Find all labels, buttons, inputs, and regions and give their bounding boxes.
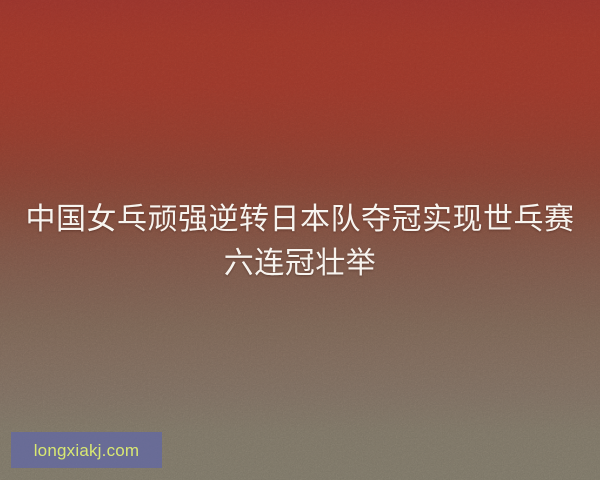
image-card: 中国女乓顽强逆转日本队夺冠实现世乓赛 六连冠壮举 longxiakj.com: [0, 0, 600, 480]
watermark-badge: longxiakj.com: [11, 432, 162, 468]
headline-line-1: 中国女乓顽强逆转日本队夺冠实现世乓赛: [18, 198, 582, 242]
headline-line-2: 六连冠壮举: [18, 242, 582, 286]
watermark-label: longxiakj.com: [34, 442, 140, 459]
headline-text: 中国女乓顽强逆转日本队夺冠实现世乓赛 六连冠壮举: [0, 198, 600, 286]
